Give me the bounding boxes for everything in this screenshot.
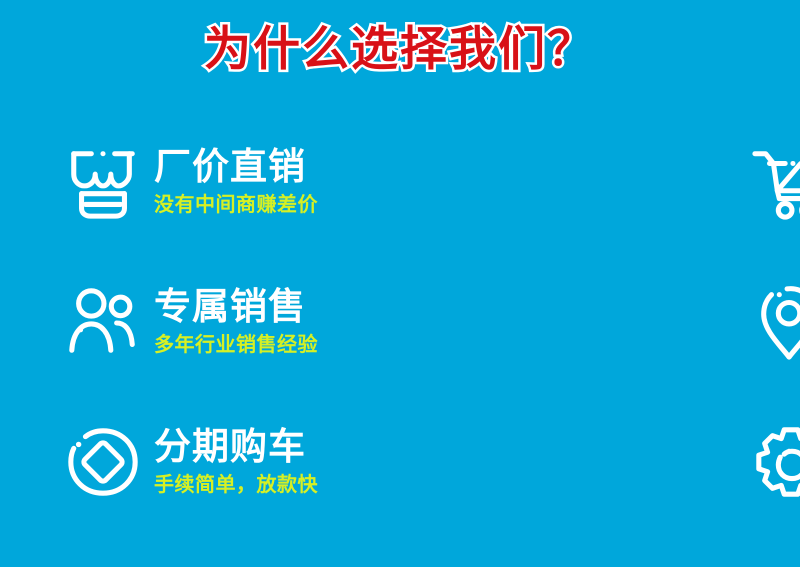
gear-icon — [752, 422, 800, 502]
feature-item-installment-purchase[interactable]: 分期购车 手续简单，放款快 — [0, 392, 318, 532]
storefront-icon — [64, 142, 142, 222]
feature-text: 专属销售 多年行业销售经验 — [154, 286, 318, 357]
page-title-container: 为什么选择我们？ — [0, 22, 800, 76]
location-pin-icon — [752, 282, 800, 362]
feature-item-special-vehicle-capital[interactable]: 专汽之都 国家专汽行业发源地 — [318, 252, 800, 392]
feature-item-dedicated-sales[interactable]: 专属销售 多年行业销售经验 — [0, 252, 318, 392]
feature-subtitle: 多年行业销售经验 — [154, 333, 318, 358]
feature-subtitle: 没有中间商赚差价 — [154, 193, 318, 218]
feature-text: 分期购车 手续简单，放款快 — [154, 426, 318, 497]
feature-title: 专属销售 — [154, 286, 318, 327]
features-grid: 厂价直销 没有中间商赚差价 厂价齐全 汇集大量直接生 — [0, 112, 800, 532]
two-people-icon — [64, 282, 142, 362]
circle-diamond-icon — [64, 422, 142, 502]
feature-item-special-vehicle-service[interactable]: 专汽服务 全国联保，24小时响应 — [318, 392, 800, 532]
feature-item-factory-direct-sales[interactable]: 厂价直销 没有中间商赚差价 — [0, 112, 318, 252]
feature-title: 厂价直销 — [154, 146, 318, 187]
feature-item-full-factory-range[interactable]: 厂价齐全 汇集大量直接生产商 — [318, 112, 800, 252]
feature-title: 分期购车 — [154, 426, 318, 467]
shopping-cart-icon — [752, 142, 800, 222]
page-title: 为什么选择我们？ — [204, 22, 596, 76]
feature-subtitle: 手续简单，放款快 — [154, 473, 318, 498]
feature-text: 厂价直销 没有中间商赚差价 — [154, 146, 318, 217]
promo-banner: 为什么选择我们？ 厂价直销 没有中间商赚差价 — [0, 0, 800, 567]
